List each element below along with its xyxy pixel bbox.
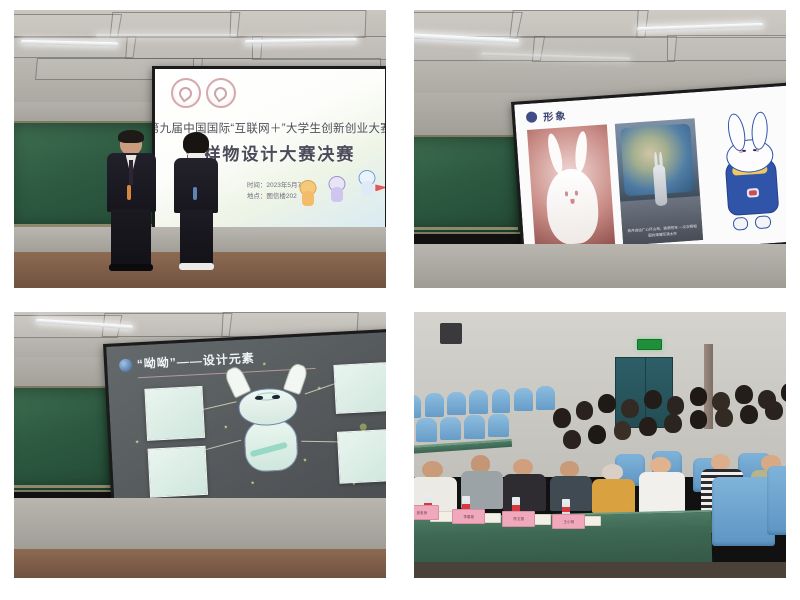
slide-mascot-image: 形象 xyxy=(514,85,786,260)
deer-sash xyxy=(250,441,289,457)
exit-sign-icon[interactable] xyxy=(637,339,661,350)
projector-screen-frame: 形象 xyxy=(511,82,786,263)
name-placard: 陈文丽 xyxy=(502,511,535,526)
male-host-tie xyxy=(129,160,133,185)
cat-mascot-icon xyxy=(325,176,349,210)
name-placard-row: 张老师 李春艳 陈文丽 王小明 xyxy=(414,504,712,536)
male-host xyxy=(103,132,159,271)
name-placard-label: 张老师 xyxy=(417,510,428,515)
hall-floor xyxy=(414,562,786,578)
male-host-shoes xyxy=(109,264,154,271)
astronaut-figure xyxy=(653,164,668,206)
competition-emblem-2-icon xyxy=(206,78,236,108)
chalkboard xyxy=(414,135,522,234)
floor xyxy=(14,549,386,578)
name-placard: 李春艳 xyxy=(452,509,485,524)
deer-mascot-yoyo xyxy=(222,380,317,488)
female-host-suit xyxy=(174,158,218,212)
ceiling-light-mid xyxy=(96,34,237,37)
male-host-hair xyxy=(118,130,144,144)
ceiling-speaker-icon xyxy=(440,323,462,344)
female-host-hair xyxy=(183,132,209,154)
slide-design-elements: “呦呦”——设计元素 ★ ★ ★ ★ ★ ★ ★ ★ ★ ★ ★ ★ xyxy=(106,331,386,514)
hand-detail-card xyxy=(337,429,386,484)
cartoon-rabbit-emblem xyxy=(746,188,759,197)
slide-image-row: 奔月自由广心怀山海，驰骋苍穹 一次次照相国的荣耀写满太空 xyxy=(527,112,786,251)
name-placard: 王小明 xyxy=(552,514,585,529)
astronaut-rabbit-image: 奔月自由广心怀山海，驰骋苍穹 一次次照相国的荣耀写满太空 xyxy=(615,118,703,245)
rabbit-ear-right xyxy=(573,131,588,173)
cartoon-rabbit-foot-right xyxy=(754,215,771,229)
slide-section-title: 形象 xyxy=(543,107,568,124)
head-sketch-card xyxy=(144,385,205,440)
panel-bottom-right[interactable]: 张老师 李春艳 陈文丽 王小明 xyxy=(414,312,786,578)
name-placard: 张老师 xyxy=(414,505,439,520)
astronaut-mascot-icon xyxy=(356,170,378,202)
male-host-legs xyxy=(111,209,151,267)
swirl-pattern-card xyxy=(334,362,386,414)
classroom-scene-1: 第九届中国国际“互联网＋”大学生创新创业大赛 吉祥物设计大赛决赛 时间：2023… xyxy=(14,10,386,288)
name-placard-label: 陈文丽 xyxy=(513,516,524,521)
chalk-rail xyxy=(14,485,111,488)
projector-screen-frame: “呦呦”——设计元素 ★ ★ ★ ★ ★ ★ ★ ★ ★ ★ ★ ★ xyxy=(103,328,386,517)
chalkboard xyxy=(14,386,115,491)
female-host-shoes xyxy=(179,263,214,270)
female-host xyxy=(170,135,222,271)
name-placard-label: 李春艳 xyxy=(463,514,474,519)
competition-logos xyxy=(171,78,236,108)
tiger-mascot-icon xyxy=(298,180,318,210)
panel-top-left[interactable]: 第九届中国国际“互联网＋”大学生创新创业大赛 吉祥物设计大赛决赛 时间：2023… xyxy=(14,10,386,288)
wall-skirting xyxy=(14,498,386,551)
lecture-hall-scene: 张老师 李春艳 陈文丽 王小明 xyxy=(414,312,786,578)
female-host-microphone xyxy=(193,187,197,201)
chalk-rail xyxy=(414,227,518,230)
blue-cartoon-rabbit-image xyxy=(702,112,786,239)
rabbit-ear-left xyxy=(545,132,565,175)
slide-mascot-row xyxy=(298,170,378,210)
photo-collage: 第九届中国国际“互联网＋”大学生创新创业大赛 吉祥物设计大赛决赛 时间：2023… xyxy=(0,0,800,600)
foreground-seat xyxy=(712,477,775,546)
name-placard-label: 王小明 xyxy=(563,519,574,524)
slide-bullet-icon xyxy=(526,111,538,123)
wall-skirting xyxy=(414,244,786,288)
male-host-microphone xyxy=(127,185,131,200)
foreground-seat xyxy=(767,466,786,535)
classroom-scene-2: 形象 xyxy=(414,10,786,288)
deer-antler-right xyxy=(283,362,310,395)
projector-screen: “呦呦”——设计元素 ★ ★ ★ ★ ★ ★ ★ ★ ★ ★ ★ ★ xyxy=(106,331,386,514)
classroom-scene-3: “呦呦”——设计元素 ★ ★ ★ ★ ★ ★ ★ ★ ★ ★ ★ ★ xyxy=(14,312,386,578)
panel-bottom-left[interactable]: “呦呦”——设计元素 ★ ★ ★ ★ ★ ★ ★ ★ ★ ★ ★ ★ xyxy=(14,312,386,578)
competition-emblem-1-icon xyxy=(171,78,201,108)
slide-bullet-icon xyxy=(119,359,133,373)
female-host-legs xyxy=(180,210,213,266)
white-rabbit-sculpture-image xyxy=(527,125,615,252)
panel-top-right[interactable]: 形象 xyxy=(414,10,786,288)
cartoon-rabbit-foot-left xyxy=(732,216,749,230)
deer-body xyxy=(243,418,299,473)
projector-screen: 形象 xyxy=(514,85,786,260)
rabbit-body xyxy=(544,167,600,246)
color-palette-card xyxy=(148,446,209,498)
